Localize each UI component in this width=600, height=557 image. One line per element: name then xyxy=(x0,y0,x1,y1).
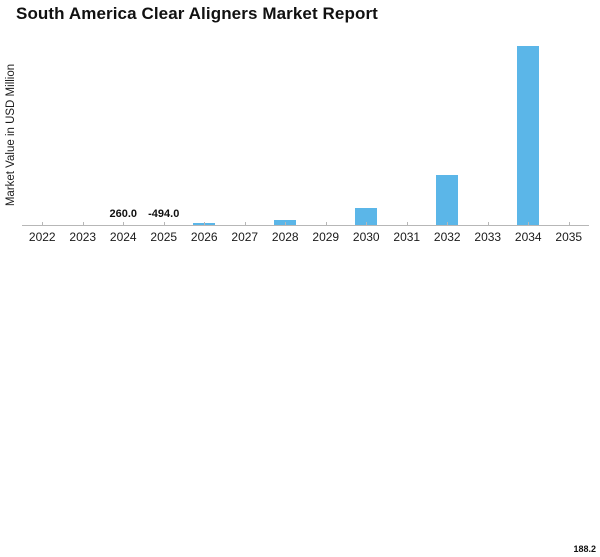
bar-slot xyxy=(508,40,549,225)
tick-mark xyxy=(285,222,286,226)
data-label xyxy=(184,207,225,221)
plot-area xyxy=(22,40,589,226)
data-label xyxy=(225,207,266,221)
x-axis-tick xyxy=(468,222,509,226)
bar-slot xyxy=(63,40,104,225)
bar-slot xyxy=(144,40,185,225)
data-label xyxy=(468,207,509,221)
x-axis-tick-label: 2030 xyxy=(346,228,387,246)
x-axis-tick-label: 2024 xyxy=(103,228,144,246)
y-axis-label: Market Value in USD Million xyxy=(5,64,17,206)
bar-slot xyxy=(306,40,347,225)
tick-mark xyxy=(164,222,165,226)
bar-series xyxy=(22,40,589,225)
data-label xyxy=(387,207,428,221)
tick-mark xyxy=(407,222,408,226)
tick-mark xyxy=(204,222,205,226)
x-axis-tick-label: 2035 xyxy=(549,228,590,246)
tick-mark xyxy=(245,222,246,226)
bar-slot xyxy=(184,40,225,225)
bar-slot xyxy=(225,40,266,225)
bar-slot xyxy=(387,40,428,225)
x-axis-tick xyxy=(387,222,428,226)
x-axis-tick-label: 2028 xyxy=(265,228,306,246)
x-axis-tick-label: 2031 xyxy=(387,228,428,246)
bar-slot xyxy=(22,40,63,225)
footer-value: 188.2 xyxy=(573,544,596,554)
x-axis-tick xyxy=(508,222,549,226)
tick-mark xyxy=(488,222,489,226)
bar[interactable] xyxy=(517,46,539,225)
y-axis-title-container: Market Value in USD Million xyxy=(0,46,22,224)
tick-mark xyxy=(123,222,124,226)
x-axis-tick-label: 2032 xyxy=(427,228,468,246)
data-label-row: 260.0-494.0 xyxy=(22,207,589,221)
data-label xyxy=(265,207,306,221)
x-axis-tick xyxy=(265,222,306,226)
bar-slot xyxy=(103,40,144,225)
bar-slot xyxy=(265,40,306,225)
data-label: -494.0 xyxy=(144,207,185,221)
x-axis-tick-marks xyxy=(22,222,589,226)
tick-mark xyxy=(366,222,367,226)
tick-mark xyxy=(528,222,529,226)
page-title: South America Clear Aligners Market Repo… xyxy=(16,4,378,24)
x-axis-tick xyxy=(225,222,266,226)
x-axis-tick-label: 2034 xyxy=(508,228,549,246)
x-axis-tick-label: 2022 xyxy=(22,228,63,246)
data-label: 260.0 xyxy=(103,207,144,221)
data-label xyxy=(346,207,387,221)
data-label xyxy=(427,207,468,221)
x-axis-tick xyxy=(549,222,590,226)
x-axis-tick xyxy=(346,222,387,226)
data-label xyxy=(549,207,590,221)
x-axis-tick xyxy=(306,222,347,226)
x-axis-tick xyxy=(103,222,144,226)
x-axis-tick-label: 2025 xyxy=(144,228,185,246)
x-axis-tick xyxy=(184,222,225,226)
x-axis-tick xyxy=(144,222,185,226)
x-axis-tick-labels: 2022202320242025202620272028202920302031… xyxy=(22,228,589,246)
x-axis-tick xyxy=(22,222,63,226)
x-axis-tick-label: 2027 xyxy=(225,228,266,246)
bar-slot xyxy=(468,40,509,225)
tick-mark xyxy=(42,222,43,226)
x-axis-tick-label: 2033 xyxy=(468,228,509,246)
data-label xyxy=(63,207,104,221)
x-axis-tick xyxy=(427,222,468,226)
tick-mark xyxy=(326,222,327,226)
data-label xyxy=(306,207,347,221)
x-axis-tick xyxy=(63,222,104,226)
bar-slot xyxy=(427,40,468,225)
tick-mark xyxy=(83,222,84,226)
data-label xyxy=(22,207,63,221)
bar-slot xyxy=(549,40,590,225)
x-axis-tick-label: 2026 xyxy=(184,228,225,246)
tick-mark xyxy=(569,222,570,226)
x-axis-tick-label: 2029 xyxy=(306,228,347,246)
data-label xyxy=(508,207,549,221)
x-axis-tick-label: 2023 xyxy=(63,228,104,246)
tick-mark xyxy=(447,222,448,226)
bar-slot xyxy=(346,40,387,225)
